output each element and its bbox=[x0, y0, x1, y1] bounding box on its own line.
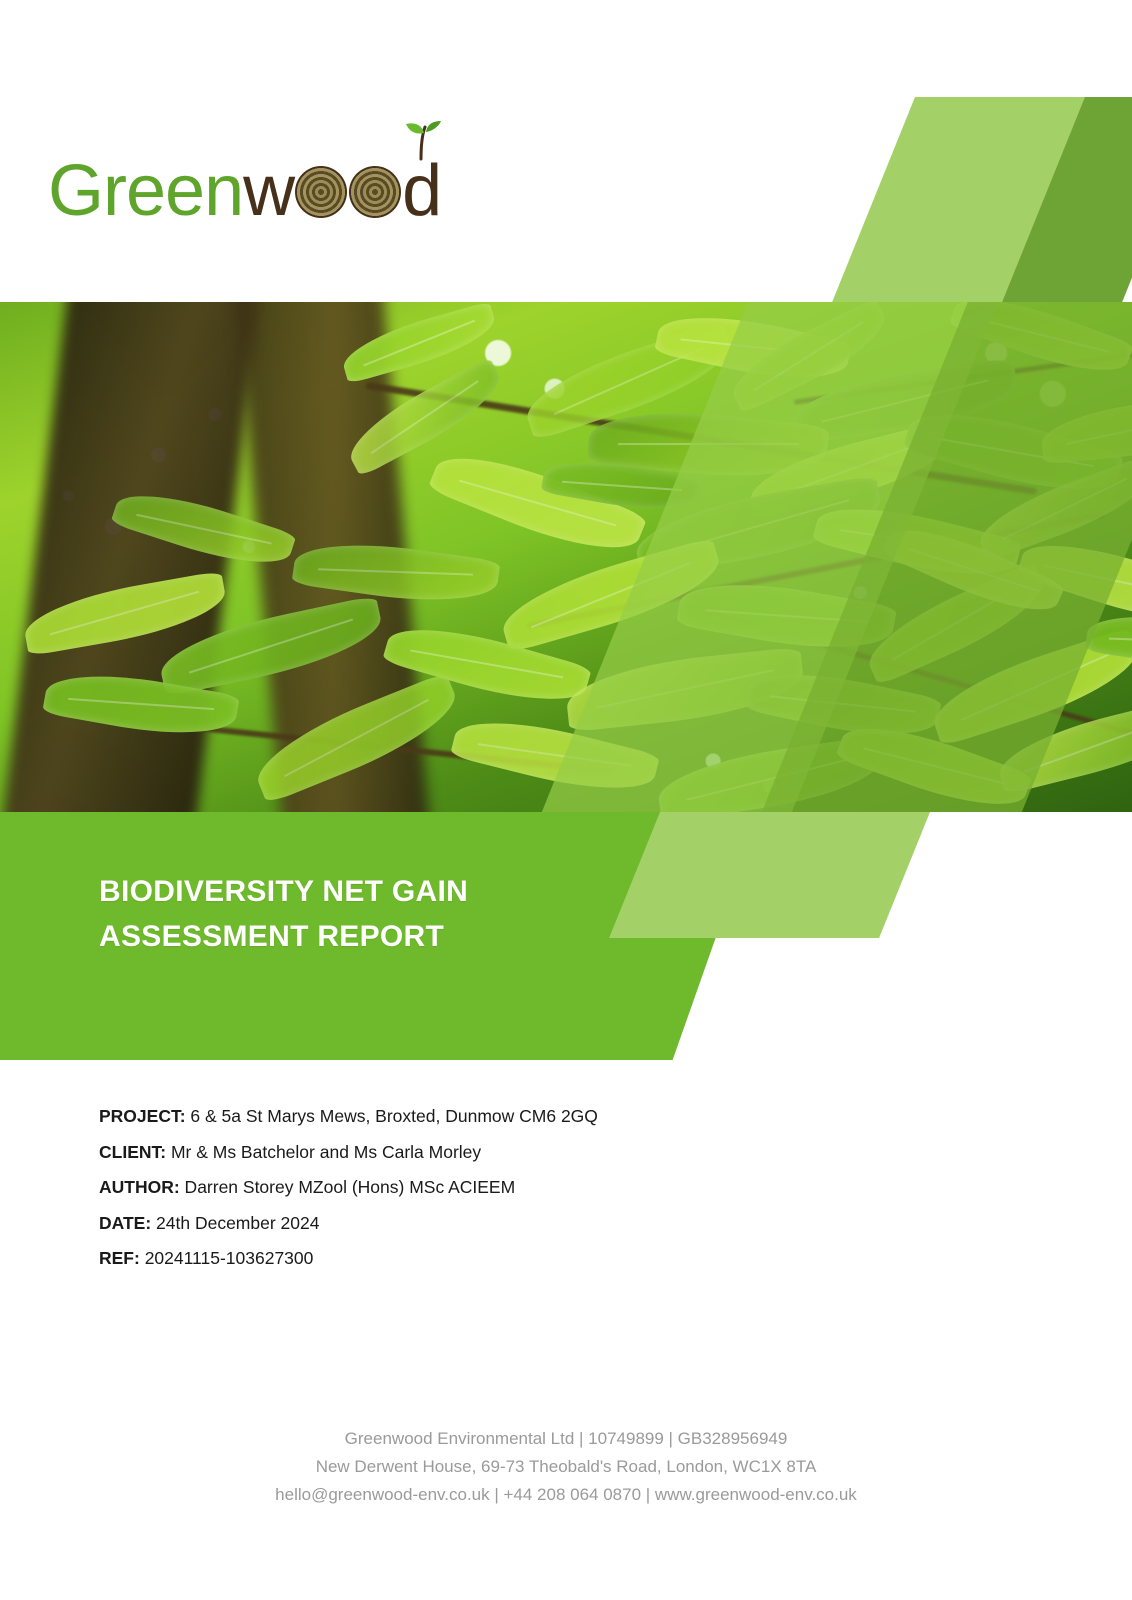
company-logo: Green w d bbox=[48, 155, 441, 227]
footer-company-line: Greenwood Environmental Ltd | 10749899 |… bbox=[0, 1425, 1132, 1453]
project-details: PROJECT: 6 & 5a St Marys Mews, Broxted, … bbox=[99, 1108, 919, 1286]
detail-row: AUTHOR: Darren Storey MZool (Hons) MSc A… bbox=[99, 1179, 919, 1197]
detail-value: 6 & 5a St Marys Mews, Broxted, Dunmow CM… bbox=[186, 1106, 598, 1126]
detail-row: CLIENT: Mr & Ms Batchelor and Ms Carla M… bbox=[99, 1144, 919, 1162]
canopy-illustration bbox=[0, 302, 1132, 812]
leaf-sprout-icon bbox=[397, 121, 443, 161]
tree-ring-icon-2 bbox=[349, 166, 401, 218]
detail-label: DATE: bbox=[99, 1213, 151, 1233]
logo-letter-d: d bbox=[402, 155, 441, 227]
page-footer: Greenwood Environmental Ltd | 10749899 |… bbox=[0, 1425, 1132, 1509]
decor-dark-parallelogram bbox=[980, 97, 1132, 302]
report-cover-page: Green w d bbox=[0, 0, 1132, 1600]
tree-ring-icon-1 bbox=[295, 166, 347, 218]
detail-label: PROJECT: bbox=[99, 1106, 186, 1126]
logo-text-wood: w d bbox=[243, 155, 441, 227]
page-title-line2: ASSESSMENT REPORT bbox=[99, 914, 659, 959]
detail-label: AUTHOR: bbox=[99, 1177, 180, 1197]
detail-row: REF: 20241115-103627300 bbox=[99, 1250, 919, 1268]
detail-value: Darren Storey MZool (Hons) MSc ACIEEM bbox=[180, 1177, 516, 1197]
title-banner: BIODIVERSITY NET GAIN ASSESSMENT REPORT bbox=[0, 812, 1132, 1060]
detail-value: 20241115-103627300 bbox=[140, 1248, 314, 1268]
detail-row: DATE: 24th December 2024 bbox=[99, 1215, 919, 1233]
detail-label: CLIENT: bbox=[99, 1142, 166, 1162]
detail-value: 24th December 2024 bbox=[151, 1213, 319, 1233]
footer-address-line: New Derwent House, 69-73 Theobald's Road… bbox=[0, 1453, 1132, 1481]
logo-letter-w: w bbox=[243, 155, 294, 227]
decor-light-parallelogram bbox=[810, 97, 1132, 302]
logo-text-green: Green bbox=[48, 155, 243, 227]
page-title: BIODIVERSITY NET GAIN ASSESSMENT REPORT bbox=[99, 869, 659, 959]
footer-contact-line: hello@greenwood-env.co.uk | +44 208 064 … bbox=[0, 1481, 1132, 1509]
detail-row: PROJECT: 6 & 5a St Marys Mews, Broxted, … bbox=[99, 1108, 919, 1126]
detail-value: Mr & Ms Batchelor and Ms Carla Morley bbox=[166, 1142, 481, 1162]
page-title-line1: BIODIVERSITY NET GAIN bbox=[99, 869, 659, 914]
detail-label: REF: bbox=[99, 1248, 140, 1268]
cover-photo bbox=[0, 302, 1132, 812]
